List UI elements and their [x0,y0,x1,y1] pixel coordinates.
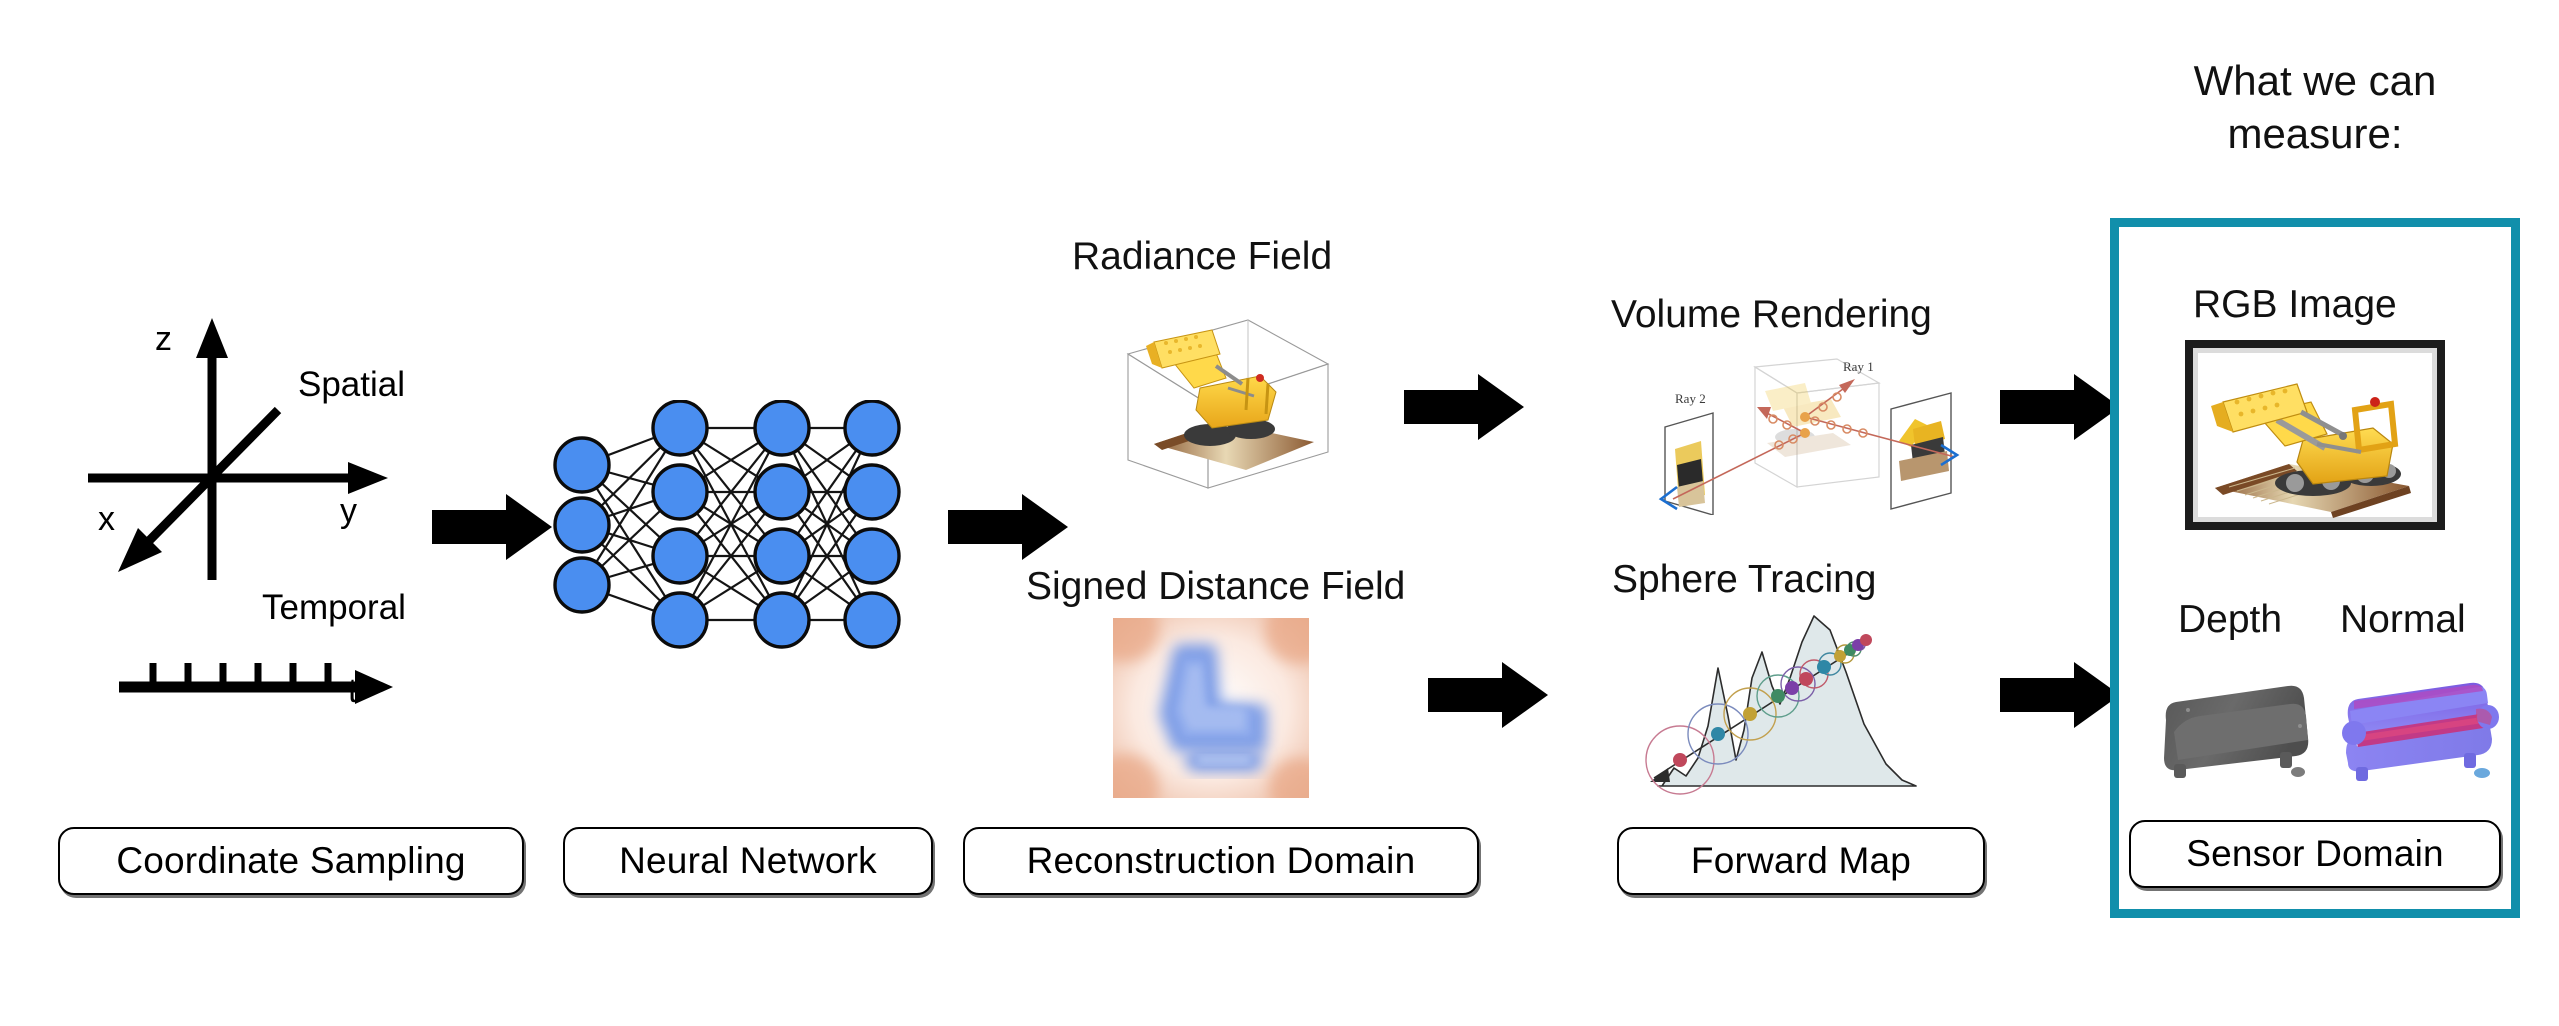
volume-rendering-image: Ray 1 Ray 2 [1655,345,1965,515]
sphere-tracing-title: Sphere Tracing [1612,558,1877,602]
arrow-sphere-to-depth [2000,660,2120,730]
temporal-label: Temporal [262,588,406,628]
signed-distance-field-title: Signed Distance Field [1026,565,1405,609]
normal-title: Normal [2340,598,2466,642]
caption-forward-map[interactable]: Forward Map [1617,827,1985,895]
caption-coordinate-sampling[interactable]: Coordinate Sampling [58,827,524,895]
depth-image [2148,660,2328,790]
ray1-text: Ray 1 [1843,359,1874,374]
page-title-line2: measure: [2120,108,2510,161]
depth-title: Depth [2178,598,2282,642]
axis-label-t: t [348,672,357,711]
sphere-tracing-image [1640,608,1960,798]
page-title: What we can measure: [2120,55,2510,160]
ray2-text: Ray 2 [1675,391,1706,406]
axis-label-x: x [98,500,115,539]
arrow-sdf-to-sphere [1428,660,1548,730]
page-title-line1: What we can [2120,55,2510,108]
caption-forward-map-label: Forward Map [1691,840,1911,882]
coordinate-axes [70,310,400,600]
caption-neural-network-label: Neural Network [619,840,877,882]
radiance-field-image [1108,292,1348,492]
axis-label-z: z [155,320,172,359]
caption-neural-network[interactable]: Neural Network [563,827,933,895]
volume-rendering-title: Volume Rendering [1611,293,1932,337]
spatial-label: Spatial [298,365,405,405]
temporal-axis [115,645,415,715]
arrow-volume-to-rgb [2000,372,2120,442]
arrow-network-to-reconstruction [948,492,1068,562]
diagram-canvas: What we can measure: z y x Spatial Tempo… [0,0,2559,1026]
radiance-field-title: Radiance Field [1072,235,1332,279]
caption-coordinate-sampling-label: Coordinate Sampling [116,840,465,882]
caption-sensor-domain-label: Sensor Domain [2186,833,2444,875]
rgb-image-title: RGB Image [2193,283,2397,327]
arrow-radiance-to-volume [1404,372,1524,442]
caption-sensor-domain[interactable]: Sensor Domain [2129,820,2501,888]
signed-distance-field-image [1113,618,1309,798]
caption-reconstruction-domain-label: Reconstruction Domain [1027,840,1416,882]
arrow-coords-to-network [432,492,552,562]
caption-reconstruction-domain[interactable]: Reconstruction Domain [963,827,1479,895]
axis-label-y: y [340,492,357,531]
rgb-image [2185,340,2445,530]
neural-network-graph [552,400,902,650]
normal-image [2330,655,2510,790]
